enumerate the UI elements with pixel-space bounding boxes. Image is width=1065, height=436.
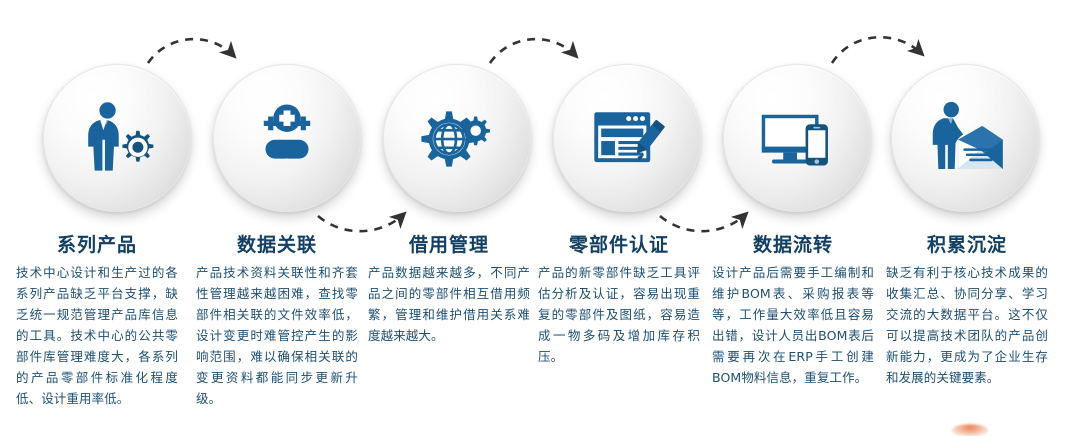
column-body-5: 设计产品后需要手工编制和维护BOM表、采购报表等等，工作量大效率低且容易出错，设…	[712, 262, 874, 388]
browser-window-pencil-icon	[584, 95, 670, 181]
infographic-canvas: 系列产品 技术中心设计和生产过的各系列产品缺乏平台支撑，缺乏统一规范管理产品库信…	[0, 0, 1065, 434]
column-body-2: 产品技术资料关联性和齐套性管理越来越困难，查找零部件相关联的文件效率低，设计变更…	[196, 262, 358, 409]
text-columns: 系列产品 技术中心设计和生产过的各系列产品缺乏平台支撑，缺乏统一规范管理产品库信…	[0, 233, 1065, 434]
column-title-6: 积累沉淀	[886, 233, 1048, 257]
businessman-gear-icon	[74, 95, 160, 181]
node-circle-5[interactable]	[723, 64, 871, 212]
connector-3-4	[490, 39, 576, 63]
node-circle-row	[0, 64, 1065, 219]
accent-smudge	[952, 424, 988, 436]
plus-chain-link-icon	[244, 95, 330, 181]
column-title-1: 系列产品	[16, 233, 178, 257]
node-circle-4[interactable]	[553, 64, 701, 212]
node-circle-6[interactable]	[891, 64, 1039, 212]
column-4: 零部件认证 产品的新零部件缺乏工具评估分析及认证，容易出现重复的零部件及图纸，容…	[538, 233, 700, 367]
column-title-3: 借用管理	[368, 233, 530, 257]
column-title-5: 数据流转	[712, 233, 874, 257]
monitor-smartphone-icon	[754, 95, 840, 181]
person-envelope-icon	[922, 95, 1008, 181]
column-5: 数据流转 设计产品后需要手工编制和维护BOM表、采购报表等等，工作量大效率低且容…	[712, 233, 874, 388]
column-3: 借用管理 产品数据越来越多，不同产品之间的零部件相互借用频繁，管理和维护借用关系…	[368, 233, 530, 346]
node-circle-1[interactable]	[43, 64, 191, 212]
column-body-6: 缺乏有利于核心技术成果的收集汇总、协同分享、学习交流的大数据平台。这不仅可以提高…	[886, 262, 1048, 388]
column-title-2: 数据关联	[196, 233, 358, 257]
node-circle-2[interactable]	[213, 64, 361, 212]
column-body-3: 产品数据越来越多，不同产品之间的零部件相互借用频繁，管理和维护借用关系难度越来越…	[368, 262, 530, 346]
node-circle-3[interactable]	[383, 64, 531, 212]
column-2: 数据关联 产品技术资料关联性和齐套性管理越来越困难，查找零部件相关联的文件效率低…	[196, 233, 358, 409]
column-body-4: 产品的新零部件缺乏工具评估分析及认证，容易出现重复的零部件及图纸，容易造成一物多…	[538, 262, 700, 367]
column-1: 系列产品 技术中心设计和生产过的各系列产品缺乏平台支撑，缺乏统一规范管理产品库信…	[16, 233, 178, 409]
connector-1-2	[148, 39, 234, 63]
globe-gears-icon	[414, 95, 500, 181]
column-6: 积累沉淀 缺乏有利于核心技术成果的收集汇总、协同分享、学习交流的大数据平台。这不…	[886, 233, 1048, 388]
column-title-4: 零部件认证	[538, 233, 700, 257]
connector-5-6	[832, 37, 922, 63]
column-body-1: 技术中心设计和生产过的各系列产品缺乏平台支撑，缺乏统一规范管理产品库信息的工具。…	[16, 262, 178, 409]
